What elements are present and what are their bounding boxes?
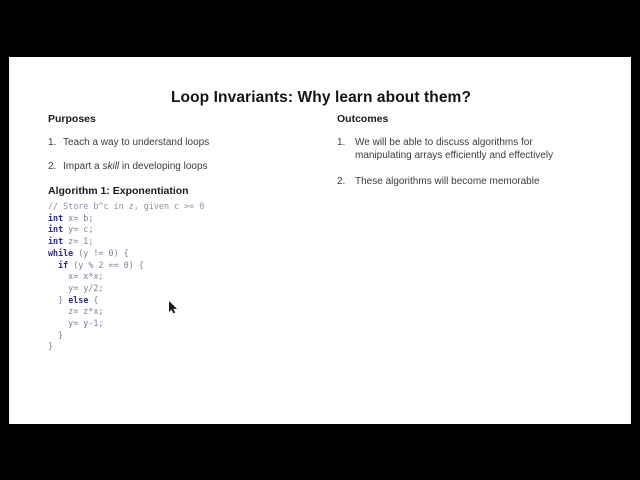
purposes-list: 1.Teach a way to understand loops2.Impar…	[48, 136, 303, 173]
letterbox-bar-bottom	[0, 424, 640, 480]
code-keyword: int	[48, 224, 63, 234]
list-item-text: These algorithms will become memorable	[355, 176, 540, 187]
code-text: z= z*x;	[68, 306, 103, 316]
outcomes-column: Outcomes 1.We will be able to discuss al…	[337, 113, 587, 201]
code-line: if (y % 2 == 0) {	[48, 260, 144, 270]
code-text: {	[88, 295, 98, 305]
letterbox-bar-top	[0, 0, 640, 57]
presentation-slide: Loop Invariants: Why learn about them? P…	[9, 57, 631, 424]
code-keyword: int	[48, 213, 63, 223]
code-text: (y != 0) {	[73, 248, 128, 258]
code-line: } else {	[48, 295, 98, 305]
list-item-number: 1.	[48, 136, 56, 149]
outcomes-list-item: 2.These algorithms will become memorable	[337, 175, 587, 188]
code-line: }	[48, 330, 63, 340]
code-line: while (y != 0) {	[48, 248, 129, 258]
code-keyword: while	[48, 248, 73, 258]
list-item-text: We will be able to discuss algorithms fo…	[355, 137, 553, 161]
code-line: }	[48, 341, 53, 351]
algorithm-code-listing: // Store b^c in z, given c >= 0 int x= b…	[48, 201, 348, 353]
code-text: z= 1;	[63, 236, 93, 246]
list-item-number: 2.	[48, 160, 56, 173]
code-text: y= c;	[63, 224, 93, 234]
outcomes-list: 1.We will be able to discuss algorithms …	[337, 136, 587, 188]
code-line: int z= 1;	[48, 236, 93, 246]
purposes-heading: Purposes	[48, 113, 303, 125]
code-text: y= y-1;	[68, 318, 103, 328]
code-line: int x= b;	[48, 213, 93, 223]
code-line: y= y-1;	[48, 318, 103, 328]
code-line: z= z*x;	[48, 306, 103, 316]
code-line: // Store b^c in z, given c >= 0	[48, 201, 204, 211]
purposes-list-item: 1.Teach a way to understand loops	[48, 136, 303, 149]
code-text: y= y/2;	[68, 283, 103, 293]
emphasized-word: skill	[102, 161, 119, 172]
video-viewport: Loop Invariants: Why learn about them? P…	[0, 0, 640, 480]
code-comment: // Store b^c in z, given c >= 0	[48, 201, 204, 211]
slide-title: Loop Invariants: Why learn about them?	[10, 89, 632, 107]
outcomes-list-item: 1.We will be able to discuss algorithms …	[337, 136, 587, 162]
algorithm-heading: Algorithm 1: Exponentiation	[48, 185, 348, 197]
code-keyword: int	[48, 236, 63, 246]
code-keyword: else	[68, 295, 88, 305]
purposes-column: Purposes 1.Teach a way to understand loo…	[48, 113, 303, 184]
code-text: x= x*x;	[68, 271, 103, 281]
code-line: y= y/2;	[48, 283, 103, 293]
code-text: (y % 2 == 0) {	[68, 260, 144, 270]
code-text: }	[48, 341, 53, 351]
code-line: x= x*x;	[48, 271, 103, 281]
outcomes-heading: Outcomes	[337, 113, 587, 125]
purposes-list-item: 2.Impart a skill in developing loops	[48, 160, 303, 173]
list-item-number: 1.	[337, 136, 345, 149]
code-text: }	[58, 330, 63, 340]
code-keyword: if	[58, 260, 68, 270]
code-text: x= b;	[63, 213, 93, 223]
algorithm-block: Algorithm 1: Exponentiation // Store b^c…	[48, 185, 348, 353]
code-line: int y= c;	[48, 224, 93, 234]
code-text: }	[58, 295, 68, 305]
